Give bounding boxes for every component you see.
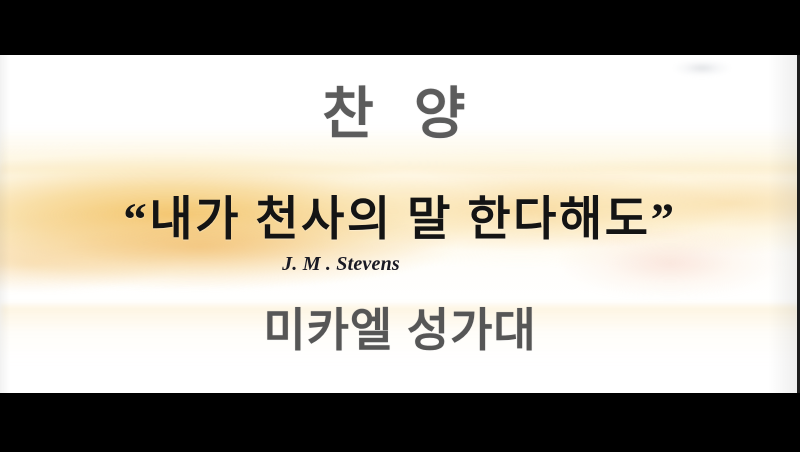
text-stack: 찬 양 “내가 천사의 말 한다해도” J. M . Stevens 미카엘 성… bbox=[0, 55, 800, 393]
song-title: “내가 천사의 말 한다해도” bbox=[0, 193, 800, 248]
letterbox-bar-bottom bbox=[0, 393, 800, 452]
video-frame: 찬 양 “내가 천사의 말 한다해도” J. M . Stevens 미카엘 성… bbox=[0, 0, 800, 452]
choir-name: 미카엘 성가대 bbox=[0, 305, 800, 356]
composer-credit: J. M . Stevens bbox=[0, 253, 800, 276]
section-heading: 찬 양 bbox=[0, 85, 800, 144]
title-slide: 찬 양 “내가 천사의 말 한다해도” J. M . Stevens 미카엘 성… bbox=[0, 55, 800, 393]
letterbox-bar-top bbox=[0, 0, 800, 55]
